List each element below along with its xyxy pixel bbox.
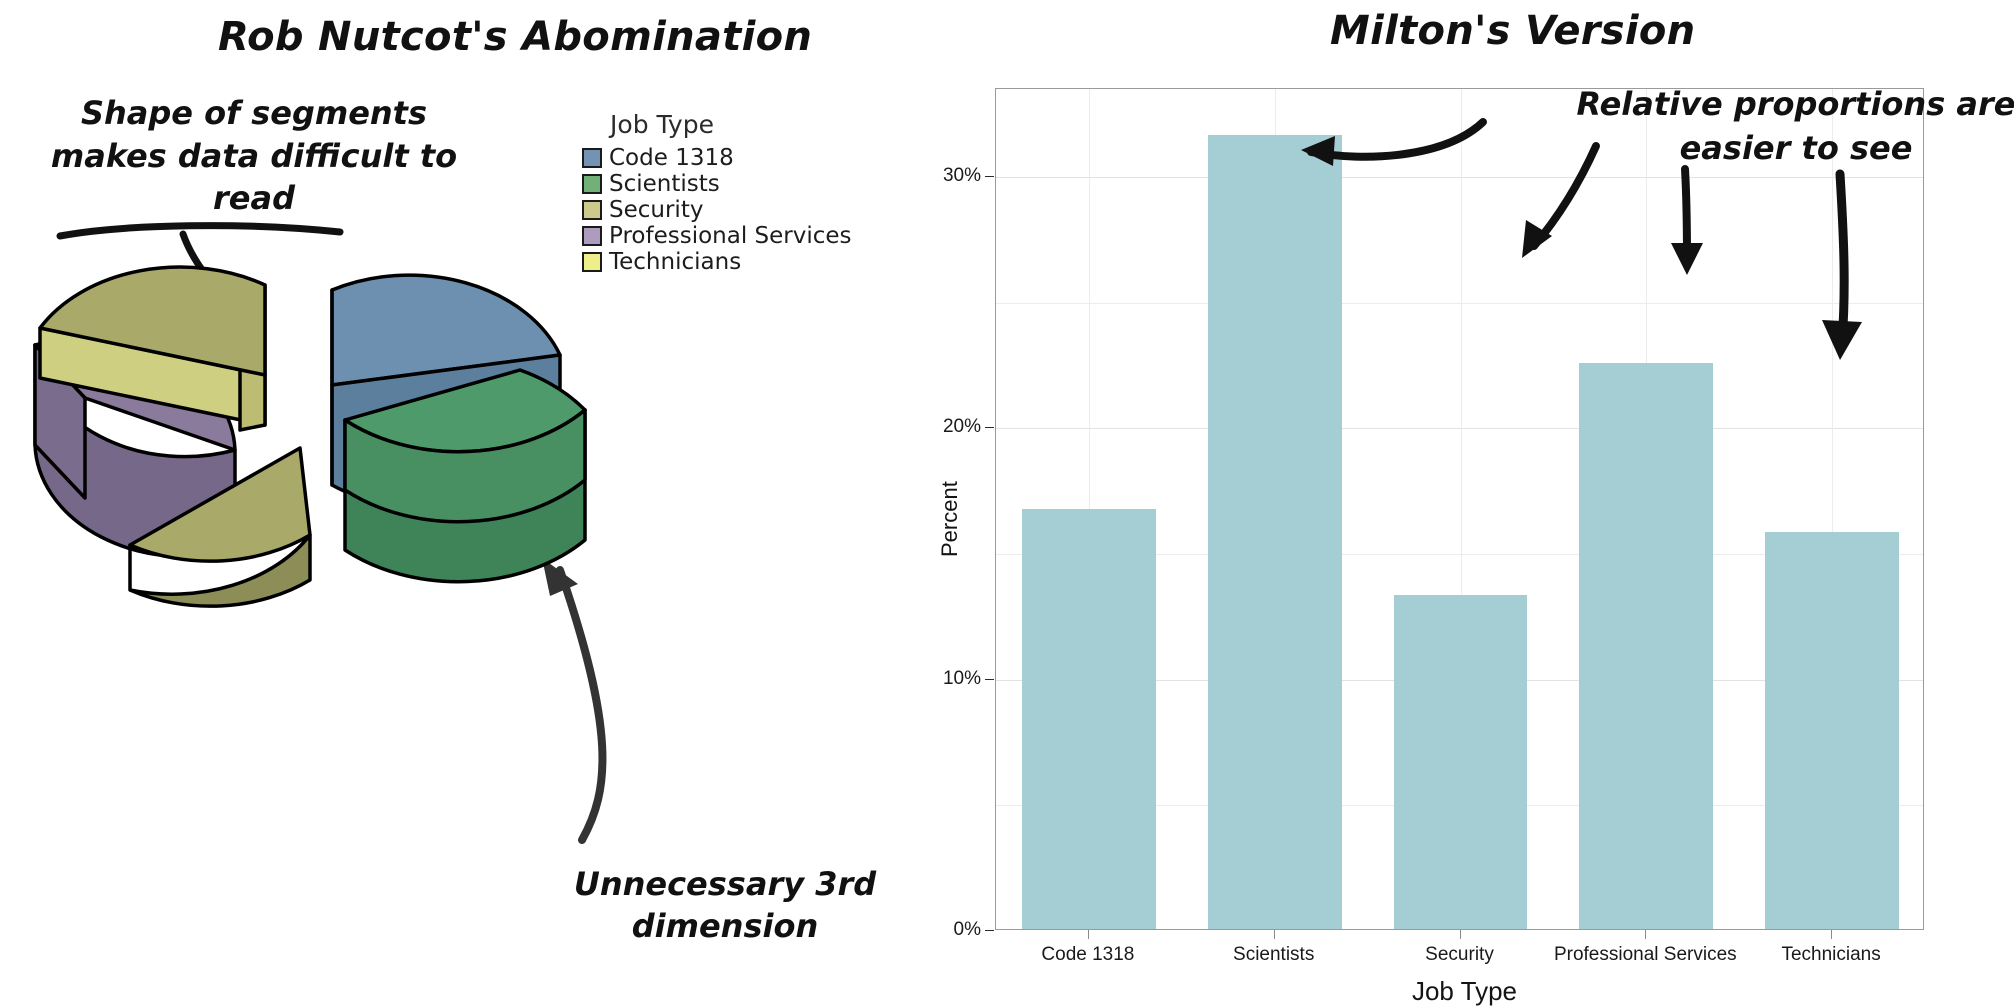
y-tick-label: 20% [943,416,981,438]
legend-title: Job Type [582,110,742,139]
x-tick-label: Code 1318 [1041,944,1134,966]
y-tick-mark [985,176,994,177]
bar-scientists[interactable] [1208,135,1342,929]
x-tick-label: Scientists [1233,944,1314,966]
x-tick-label: Security [1425,944,1494,966]
pie-svg [0,250,700,720]
y-tick-mark [985,679,994,680]
x-tick-label: Technicians [1781,944,1880,966]
legend-item-code-1318[interactable]: Code 1318 [582,145,802,171]
x-tick-mark [1831,930,1832,939]
legend-item-scientists[interactable]: Scientists [582,171,802,197]
minor-gridline [996,303,1923,304]
x-tick-mark [1088,930,1089,939]
x-axis-label: Job Type [915,976,2014,1007]
right-chart-title: Milton's Version [1330,8,1695,54]
legend-swatch-icon [582,226,602,246]
exploded-3d-pie-chart [0,250,700,720]
x-tick-mark [1460,930,1461,939]
annotation-relative-proportions: Relative proportions are easier to see [1570,82,2014,170]
legend-swatch-icon [582,174,602,194]
x-tick-label: Professional Services [1554,944,1737,966]
annotation-shape-of-segments: Shape of segments makes data difficult t… [34,92,474,220]
long-down-arrow-icon [1810,170,1880,370]
legend-item-security[interactable]: Security [582,197,802,223]
x-tick-mark [1645,930,1646,939]
legend-label: Professional Services [609,223,852,249]
legend-label: Code 1318 [609,145,734,171]
y-axis-label: Percent [937,481,963,557]
down-arrow-icon [1655,165,1715,280]
legend-label: Security [609,197,703,223]
left-chart-title: Rob Nutcot's Abomination [218,14,812,60]
bar-technicians[interactable] [1765,532,1899,929]
down-left-arrow-icon [1500,140,1610,270]
y-tick-label: 30% [943,165,981,187]
annotation-3rd-dimension: Unnecessary 3rd dimension [560,864,890,947]
legend-item-professional-services[interactable]: Professional Services [582,223,802,249]
plot-panel [995,88,1924,930]
infographic-root: Rob Nutcot's Abomination Shape of segmen… [0,0,2014,976]
major-gridline [996,428,1923,429]
y-tick-label: 0% [954,919,981,941]
legend-swatch-icon [582,148,602,168]
x-tick-mark [1274,930,1275,939]
legend-swatch-icon [582,200,602,220]
bar-security[interactable] [1394,595,1528,929]
legend-label: Scientists [609,171,720,197]
y-tick-mark [985,930,994,931]
curved-left-arrow-icon [1295,110,1495,180]
y-tick-label: 10% [943,668,981,690]
bar-code-1318[interactable] [1022,509,1156,929]
y-tick-mark [985,427,994,428]
bar-professional-services[interactable] [1579,363,1713,929]
